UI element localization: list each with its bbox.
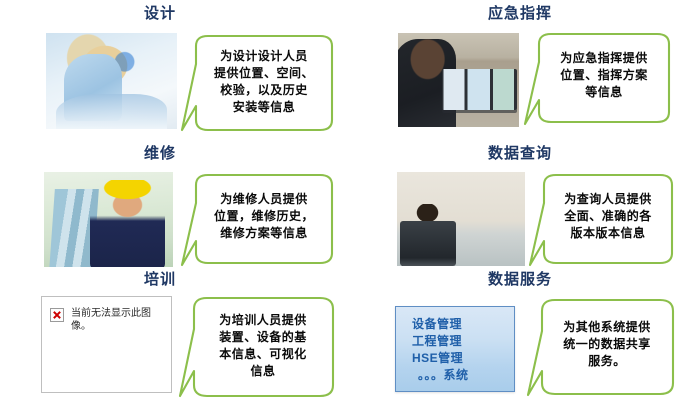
system-line-3: HSE管理: [412, 350, 514, 367]
callout-maintenance: 为维修人员提供 位置，维修历史， 维修方案等信息: [180, 173, 338, 267]
design-photo: [46, 33, 177, 129]
callout-text-dataservice: 为其他系统提供 统一的数据共享 服务。: [544, 319, 670, 370]
callout-text-query: 为查询人员提供 全面、准确的各 版本版本信息: [546, 191, 670, 242]
cell-training: 培训 当前无法显示此图像。 为培训人员提供 装置、设备的基 本信息、可视化 信息: [0, 270, 340, 400]
cell-design: 设计 为设计设计人员 提供位置、空间、 校验，以及历史 安装等信息: [0, 4, 340, 140]
cell-emergency: 应急指挥 为应急指挥提供 位置、指挥方案 等信息: [340, 4, 681, 140]
callout-text-maintenance: 为维修人员提供 位置，维修历史， 维修方案等信息: [198, 191, 330, 242]
system-line-2: 工程管理: [412, 333, 514, 350]
cell-title-training: 培训: [10, 270, 310, 290]
maintenance-photo: [44, 172, 173, 267]
emergency-command-photo: [398, 33, 519, 127]
broken-image-icon: [50, 308, 64, 322]
broken-image-text: 当前无法显示此图像。: [71, 307, 163, 333]
callout-query: 为查询人员提供 全面、准确的各 版本版本信息: [528, 173, 678, 267]
data-service-system-box: 设备管理 工程管理 HSE管理 。。。系统: [395, 306, 515, 392]
callout-design: 为设计设计人员 提供位置、空间、 校验，以及历史 安装等信息: [180, 34, 340, 134]
callout-dataservice: 为其他系统提供 统一的数据共享 服务。: [526, 297, 678, 397]
slide-canvas: 设计 为设计设计人员 提供位置、空间、 校验，以及历史 安装等信息 应急指挥 为…: [0, 0, 681, 400]
cell-maintenance: 维修 为维修人员提供 位置，维修历史， 维修方案等信息: [0, 144, 340, 266]
cell-title-design: 设计: [10, 4, 310, 24]
data-query-photo: [397, 172, 525, 266]
cell-title-query: 数据查询: [370, 144, 670, 164]
cell-dataservice: 数据服务 设备管理 工程管理 HSE管理 。。。系统 为其他系统提供 统一的数据…: [340, 270, 681, 400]
cell-query: 数据查询 为查询人员提供 全面、准确的各 版本版本信息: [340, 144, 681, 266]
cell-title-emergency: 应急指挥: [370, 4, 670, 24]
callout-text-design: 为设计设计人员 提供位置、空间、 校验，以及历史 安装等信息: [198, 48, 330, 116]
callout-text-emergency: 为应急指挥提供 位置、指挥方案 等信息: [541, 50, 667, 101]
system-line-1: 设备管理: [412, 316, 514, 333]
callout-training: 为培训人员提供 装置、设备的基 本信息、可视化 信息: [178, 295, 338, 399]
system-line-4: 。。。系统: [412, 367, 514, 384]
callout-text-training: 为培训人员提供 装置、设备的基 本信息、可视化 信息: [196, 312, 330, 380]
callout-emergency: 为应急指挥提供 位置、指挥方案 等信息: [523, 32, 675, 128]
training-broken-image: 当前无法显示此图像。: [41, 296, 172, 393]
cell-title-dataservice: 数据服务: [370, 270, 670, 290]
cell-title-maintenance: 维修: [10, 144, 310, 164]
